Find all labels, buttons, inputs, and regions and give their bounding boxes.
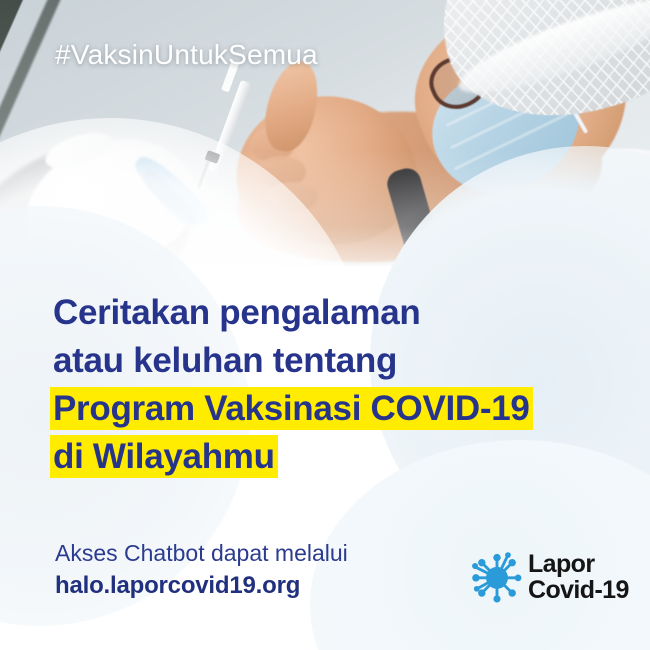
headline-block: Ceritakan pengalaman atau keluhan tentan… — [53, 290, 613, 482]
logo-text-line-2: Covid-19 — [528, 577, 629, 603]
hashtag-label: #VaksinUntukSemua — [55, 39, 318, 71]
logo-wordmark: Lapor Covid-19 — [528, 551, 629, 603]
cta-block: Akses Chatbot dapat melalui halo.laporco… — [55, 538, 348, 602]
cta-label: Akses Chatbot dapat melalui — [55, 538, 348, 569]
headline-line-2: atau keluhan tentang — [53, 338, 613, 384]
headline-line-1: Ceritakan pengalaman — [53, 290, 613, 336]
cta-url[interactable]: halo.laporcovid19.org — [55, 569, 348, 602]
headline-line-4-wrapper: di Wilayahmu — [53, 434, 613, 480]
headline-line-3-wrapper: Program Vaksinasi COVID-19 — [53, 386, 613, 432]
logo-text-line-1: Lapor — [528, 551, 629, 577]
headline-line-3: Program Vaksinasi COVID-19 — [53, 387, 530, 430]
lapor-covid-logo[interactable]: Lapor Covid-19 — [470, 547, 635, 607]
coronavirus-icon — [470, 550, 524, 604]
poster-canvas: #VaksinUntukSemua Ceritakan pengalaman a… — [0, 0, 650, 650]
headline-line-4: di Wilayahmu — [53, 435, 275, 478]
